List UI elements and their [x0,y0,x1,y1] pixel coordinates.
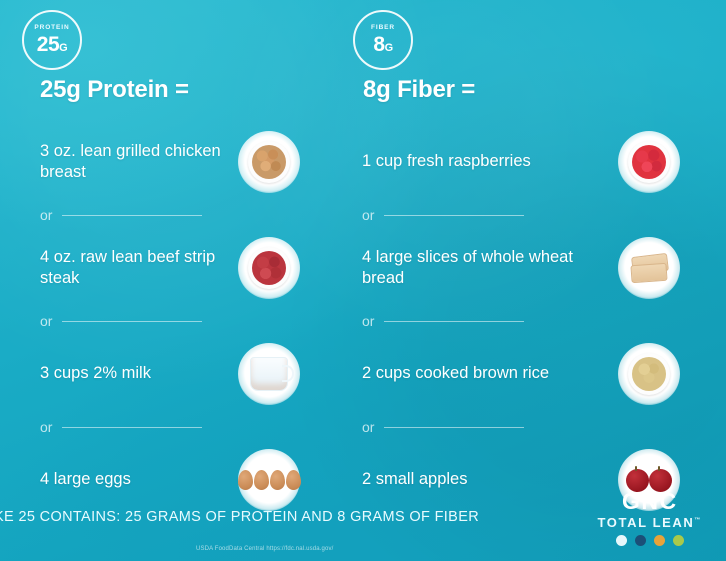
list-item-label: 4 large eggs [40,469,131,490]
list-item-label: 3 cups 2% milk [40,363,151,384]
or-divider-line [62,215,202,216]
list-item: 3 oz. lean grilled chicken breast [40,126,330,198]
protein-badge-caption: PROTEIN [34,25,69,32]
brand-dot-4 [673,535,684,546]
footer-source-citation: USDA FoodData Central https://fdc.nal.us… [196,546,333,552]
or-divider: or [362,198,692,232]
or-divider: or [362,304,692,338]
or-divider: or [40,410,330,444]
list-item: 3 cups 2% milk [40,338,330,410]
or-divider-line [384,215,524,216]
list-item-label: 2 small apples [362,469,467,490]
protein-column: 3 oz. lean grilled chicken breast or 4 o… [40,126,330,516]
fiber-column: 1 cup fresh raspberries or 4 large slice… [362,126,692,516]
brand-dot-1 [616,535,627,546]
or-divider-line [62,321,202,322]
list-item-label: 4 oz. raw lean beef strip steak [40,247,238,289]
chicken-bowl-icon [238,131,300,193]
or-label: or [362,207,374,223]
infographic-canvas: PROTEIN 25G FIBER 8G 25g Protein = 8g Fi… [0,0,726,561]
or-divider-line [62,427,202,428]
list-item-label: 1 cup fresh raspberries [362,151,531,172]
or-divider: or [362,410,692,444]
gnc-total-lean-logo: GNC TOTAL LEAN™ [598,490,703,546]
or-label: or [40,313,52,329]
list-item-label: 2 cups cooked brown rice [362,363,549,384]
or-label: or [40,419,52,435]
brown-rice-bowl-icon [618,343,680,405]
protein-badge: PROTEIN 25G [22,10,82,70]
milk-pitcher-icon [238,343,300,405]
total-lean-wordmark: TOTAL LEAN™ [598,516,703,529]
protein-badge-value: 25G [37,34,67,55]
fiber-badge-value: 8G [373,34,392,55]
brand-dot-row [598,535,703,546]
list-item: 2 cups cooked brown rice [362,338,692,410]
protein-column-heading: 25g Protein = [40,76,189,104]
gnc-wordmark: GNC [598,490,703,513]
brand-dot-2 [635,535,646,546]
list-item: 1 cup fresh raspberries [362,126,692,198]
or-divider: or [40,198,330,232]
or-label: or [40,207,52,223]
list-item: 4 oz. raw lean beef strip steak [40,232,330,304]
beef-bowl-icon [238,237,300,299]
list-item: 4 large slices of whole wheat bread [362,232,692,304]
fiber-badge-caption: FIBER [371,25,395,32]
list-item-label: 3 oz. lean grilled chicken breast [40,141,238,183]
footer-claim-text: AKE 25 CONTAINS: 25 GRAMS OF PROTEIN AND… [0,509,604,525]
or-label: or [362,419,374,435]
or-divider-line [384,321,524,322]
raspberries-bowl-icon [618,131,680,193]
or-label: or [362,313,374,329]
fiber-badge: FIBER 8G [353,10,413,70]
list-item: 4 large eggs [40,444,330,516]
bread-slices-icon [618,237,680,299]
brand-dot-3 [654,535,665,546]
fiber-column-heading: 8g Fiber = [363,76,475,104]
list-item-label: 4 large slices of whole wheat bread [362,247,607,289]
or-divider: or [40,304,330,338]
or-divider-line [384,427,524,428]
eggs-icon [238,449,300,511]
